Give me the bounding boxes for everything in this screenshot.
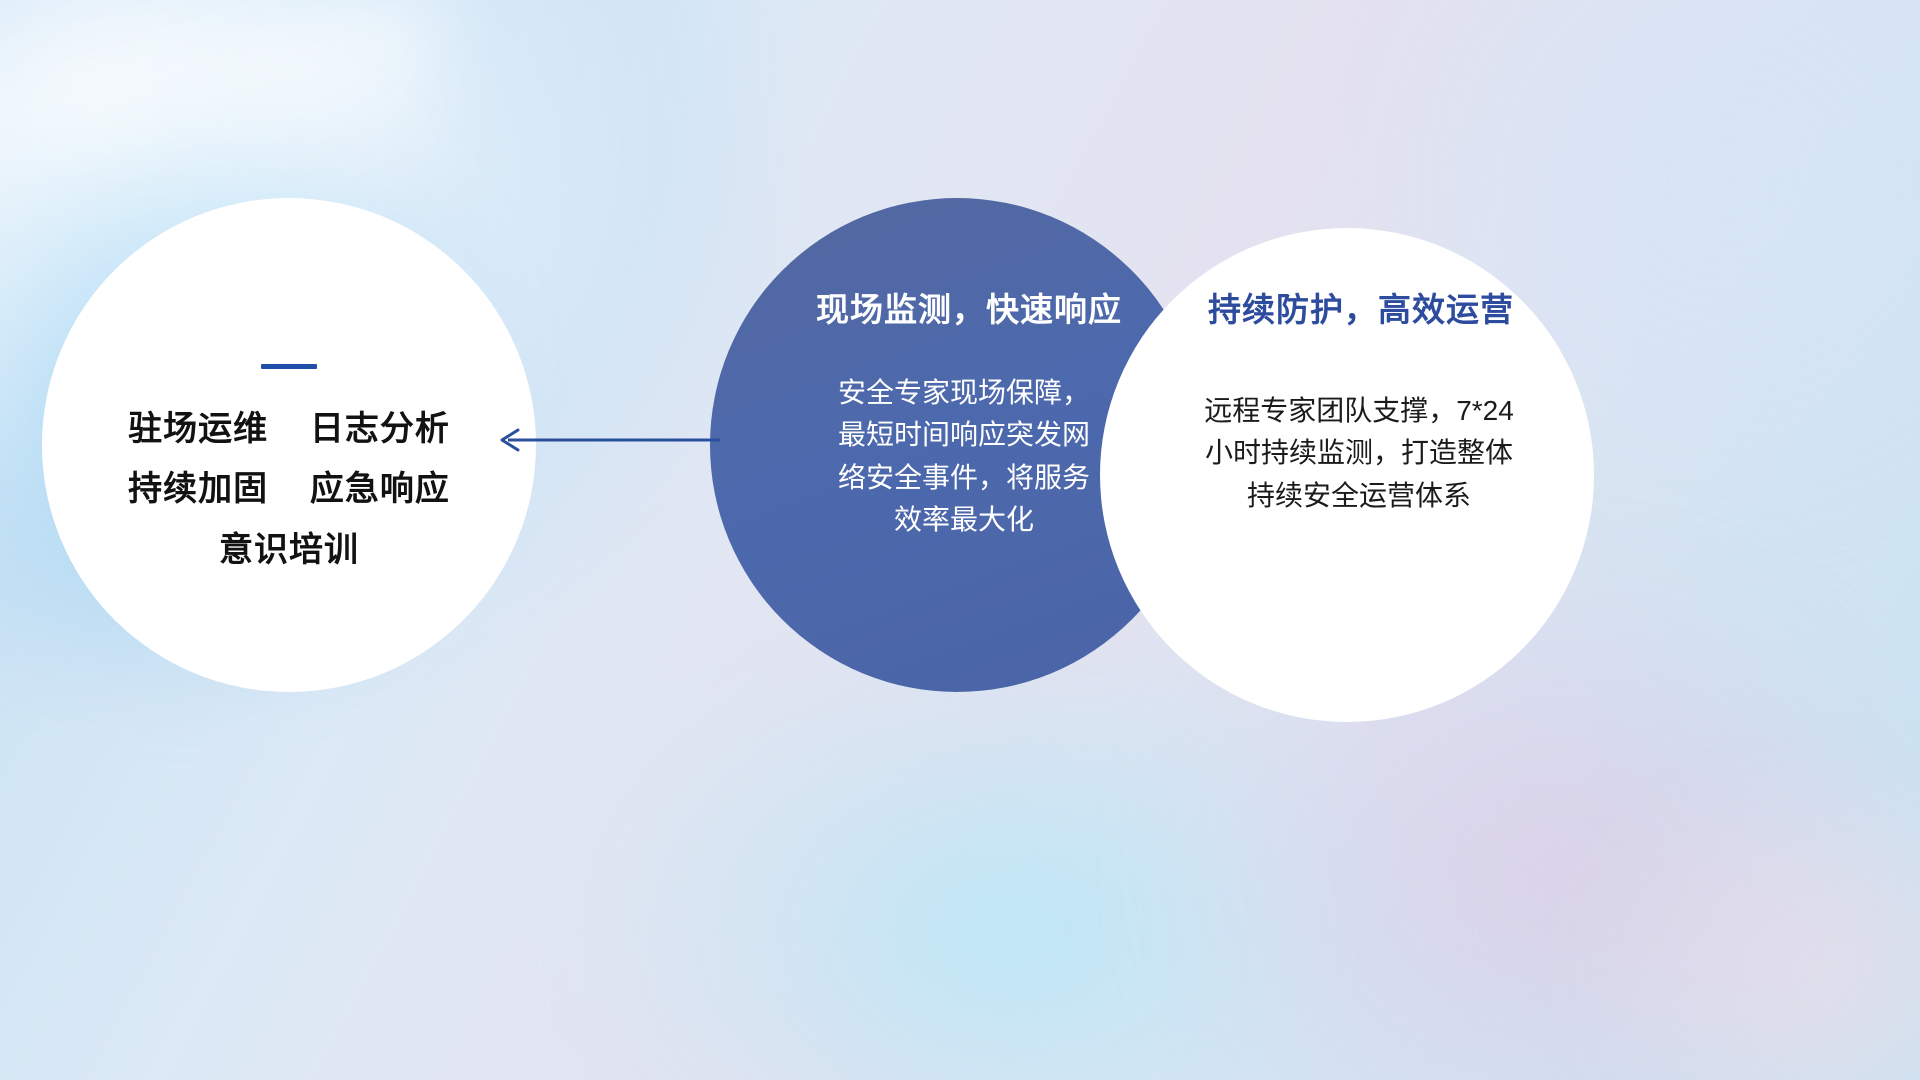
onsite-monitoring-heading: 现场监测，快速响应 xyxy=(816,290,1122,330)
capabilities-line-1: 驻场运维 日志分析 xyxy=(128,411,450,448)
slide-canvas: 现场监测，快速响应 安全专家现场保障， 最短时间响应突发网 络安全事件，将服务 … xyxy=(0,0,1920,1080)
left-arrow-connector xyxy=(492,418,722,462)
capabilities-line-2: 持续加固 应急响应 xyxy=(128,471,450,508)
onsite-monitoring-heading-wrap: 现场监测，快速响应 xyxy=(816,290,1122,330)
onsite-monitoring-body-wrap: 安全专家现场保障， 最短时间响应突发网 络安全事件，将服务 效率最大化 xyxy=(814,372,1114,542)
capabilities-list: 驻场运维 日志分析 持续加固 应急响应 意识培训 xyxy=(128,411,450,569)
continuous-protection-circle[interactable]: 持续防护，高效运营 远程专家团队支撑，7*24 小时持续监测，打造整体 持续安全… xyxy=(1100,228,1594,722)
divider-dash-icon xyxy=(261,364,317,369)
capabilities-line-3: 意识培训 xyxy=(219,532,359,569)
capabilities-circle[interactable]: 驻场运维 日志分析 持续加固 应急响应 意识培训 xyxy=(42,198,536,692)
continuous-protection-heading: 持续防护，高效运营 xyxy=(1208,290,1514,330)
continuous-protection-body-wrap: 远程专家团队支撑，7*24 小时持续监测，打造整体 持续安全运营体系 xyxy=(1184,390,1534,518)
continuous-protection-heading-wrap: 持续防护，高效运营 xyxy=(1208,290,1514,330)
continuous-protection-body: 远程专家团队支撑，7*24 小时持续监测，打造整体 持续安全运营体系 xyxy=(1184,390,1534,518)
background-glow-bottom-right xyxy=(1560,760,1920,1080)
onsite-monitoring-body: 安全专家现场保障， 最短时间响应突发网 络安全事件，将服务 效率最大化 xyxy=(814,372,1114,542)
